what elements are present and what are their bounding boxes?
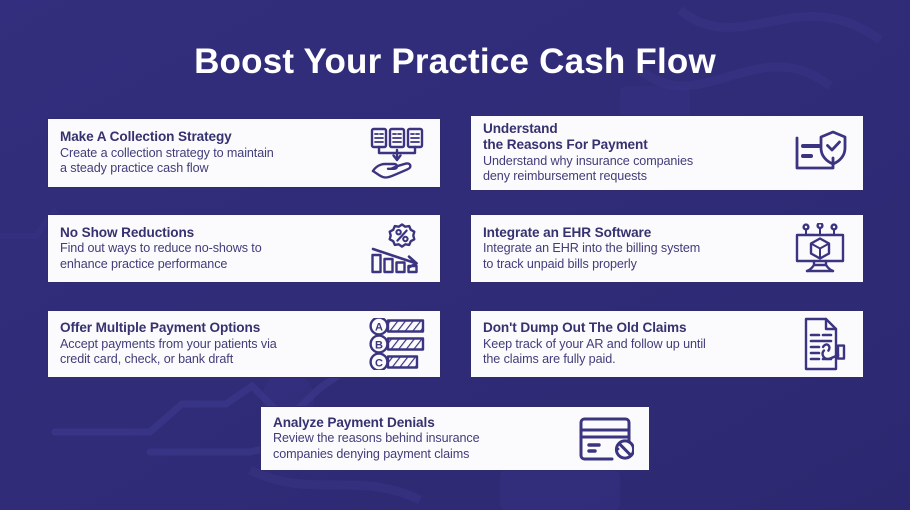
card-title: Analyze Payment Denials bbox=[273, 415, 577, 431]
card-text: Offer Multiple Payment Options Accept pa… bbox=[60, 320, 368, 367]
card-make-a-collection-strategy[interactable]: Make A Collection Strategy Create a coll… bbox=[47, 118, 441, 188]
card-title: Integrate an EHR Software bbox=[483, 225, 791, 241]
monitor-cube-network-icon bbox=[791, 220, 849, 278]
card-text: Understand the Reasons For Payment Under… bbox=[483, 121, 791, 184]
declining-bar-chart-percent-icon bbox=[368, 220, 426, 278]
card-description: Integrate an EHR into the billing system… bbox=[483, 241, 791, 272]
icon-option-c-label: C bbox=[375, 357, 383, 369]
card-description: Understand why insurance companies deny … bbox=[483, 154, 791, 185]
card-description: Accept payments from your patients via c… bbox=[60, 337, 368, 368]
card-analyze-payment-denials[interactable]: Analyze Payment Denials Review the reaso… bbox=[260, 406, 650, 471]
card-offer-multiple-payment-options[interactable]: Offer Multiple Payment Options Accept pa… bbox=[47, 310, 441, 378]
icon-option-b-label: B bbox=[375, 339, 383, 351]
card-title: Make A Collection Strategy bbox=[60, 129, 368, 145]
card-title: No Show Reductions bbox=[60, 225, 368, 241]
card-title: Don't Dump Out The Old Claims bbox=[483, 320, 791, 336]
abc-options-list-icon: A B C bbox=[368, 315, 426, 373]
card-title: Understand the Reasons For Payment bbox=[483, 121, 791, 153]
page-title: Boost Your Practice Cash Flow bbox=[0, 42, 910, 82]
documents-to-hand-icon bbox=[368, 124, 426, 182]
document-shield-check-icon bbox=[791, 124, 849, 182]
credit-card-denied-icon bbox=[577, 410, 635, 468]
card-text: Integrate an EHR Software Integrate an E… bbox=[483, 225, 791, 272]
card-understand-the-reasons-for-payment[interactable]: Understand the Reasons For Payment Under… bbox=[470, 115, 864, 191]
card-text: Don't Dump Out The Old Claims Keep track… bbox=[483, 320, 791, 367]
card-description: Review the reasons behind insurance comp… bbox=[273, 431, 577, 462]
card-title: Offer Multiple Payment Options bbox=[60, 320, 368, 336]
card-dont-dump-out-the-old-claims[interactable]: Don't Dump Out The Old Claims Keep track… bbox=[470, 310, 864, 378]
card-description: Keep track of your AR and follow up unti… bbox=[483, 337, 791, 368]
icon-option-a-label: A bbox=[375, 321, 383, 333]
card-text: Analyze Payment Denials Review the reaso… bbox=[273, 415, 577, 462]
infographic-canvas: Boost Your Practice Cash Flow Make A Col… bbox=[0, 0, 910, 510]
card-description: Find out ways to reduce no-shows to enha… bbox=[60, 241, 368, 272]
card-description: Create a collection strategy to maintain… bbox=[60, 146, 368, 177]
card-no-show-reductions[interactable]: No Show Reductions Find out ways to redu… bbox=[47, 214, 441, 283]
card-text: Make A Collection Strategy Create a coll… bbox=[60, 129, 368, 176]
card-text: No Show Reductions Find out ways to redu… bbox=[60, 225, 368, 272]
card-integrate-an-ehr-software[interactable]: Integrate an EHR Software Integrate an E… bbox=[470, 214, 864, 283]
document-hand-icon bbox=[791, 315, 849, 373]
